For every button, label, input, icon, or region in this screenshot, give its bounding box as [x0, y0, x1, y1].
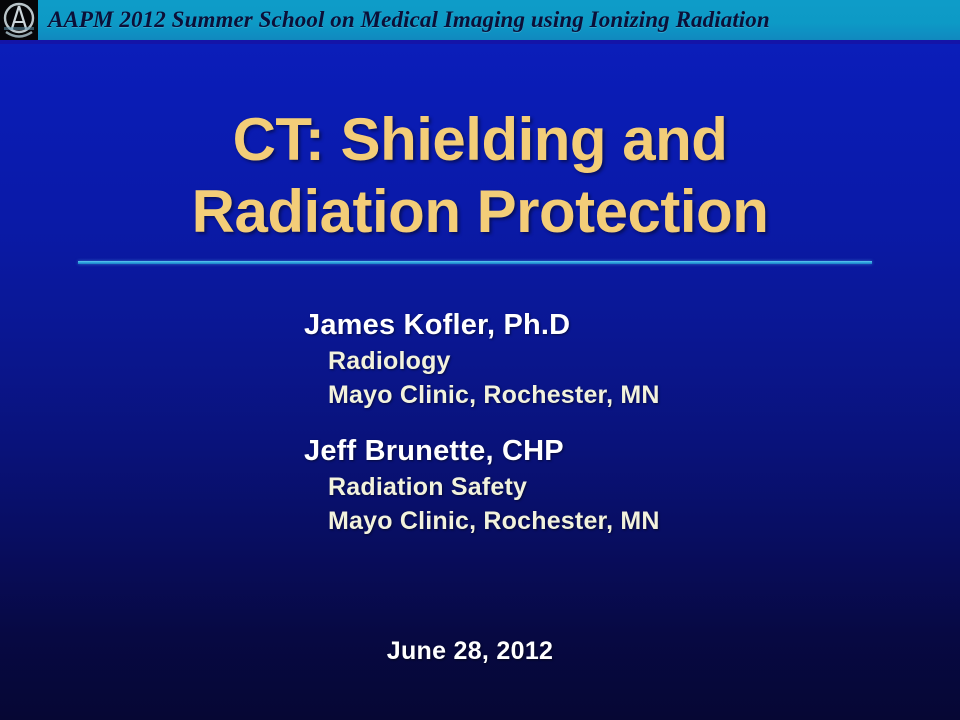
aapm-logo-block — [0, 0, 38, 42]
author-name: James Kofler, Ph.D — [304, 306, 904, 344]
author-block: James Kofler, Ph.D Radiology Mayo Clinic… — [304, 306, 904, 412]
author-name: Jeff Brunette, CHP — [304, 432, 904, 470]
header-banner: AAPM 2012 Summer School on Medical Imagi… — [0, 0, 960, 42]
presentation-date: June 28, 2012 — [0, 637, 940, 666]
author-department: Radiation Safety — [328, 470, 904, 504]
presentation-slide: AAPM 2012 Summer School on Medical Imagi… — [0, 0, 960, 720]
slide-title-line-2: Radiation Protection — [0, 176, 960, 248]
author-block: Jeff Brunette, CHP Radiation Safety Mayo… — [304, 432, 904, 538]
banner-underline — [0, 40, 960, 44]
title-divider — [78, 261, 872, 264]
slide-title-line-1: CT: Shielding and — [0, 104, 960, 176]
author-list: James Kofler, Ph.D Radiology Mayo Clinic… — [304, 306, 904, 558]
author-institution: Mayo Clinic, Rochester, MN — [328, 378, 904, 412]
aapm-logo-icon — [2, 1, 36, 41]
slide-title: CT: Shielding and Radiation Protection — [0, 104, 960, 248]
banner-title-text: AAPM 2012 Summer School on Medical Imagi… — [48, 0, 770, 40]
author-department: Radiology — [328, 344, 904, 378]
author-institution: Mayo Clinic, Rochester, MN — [328, 504, 904, 538]
